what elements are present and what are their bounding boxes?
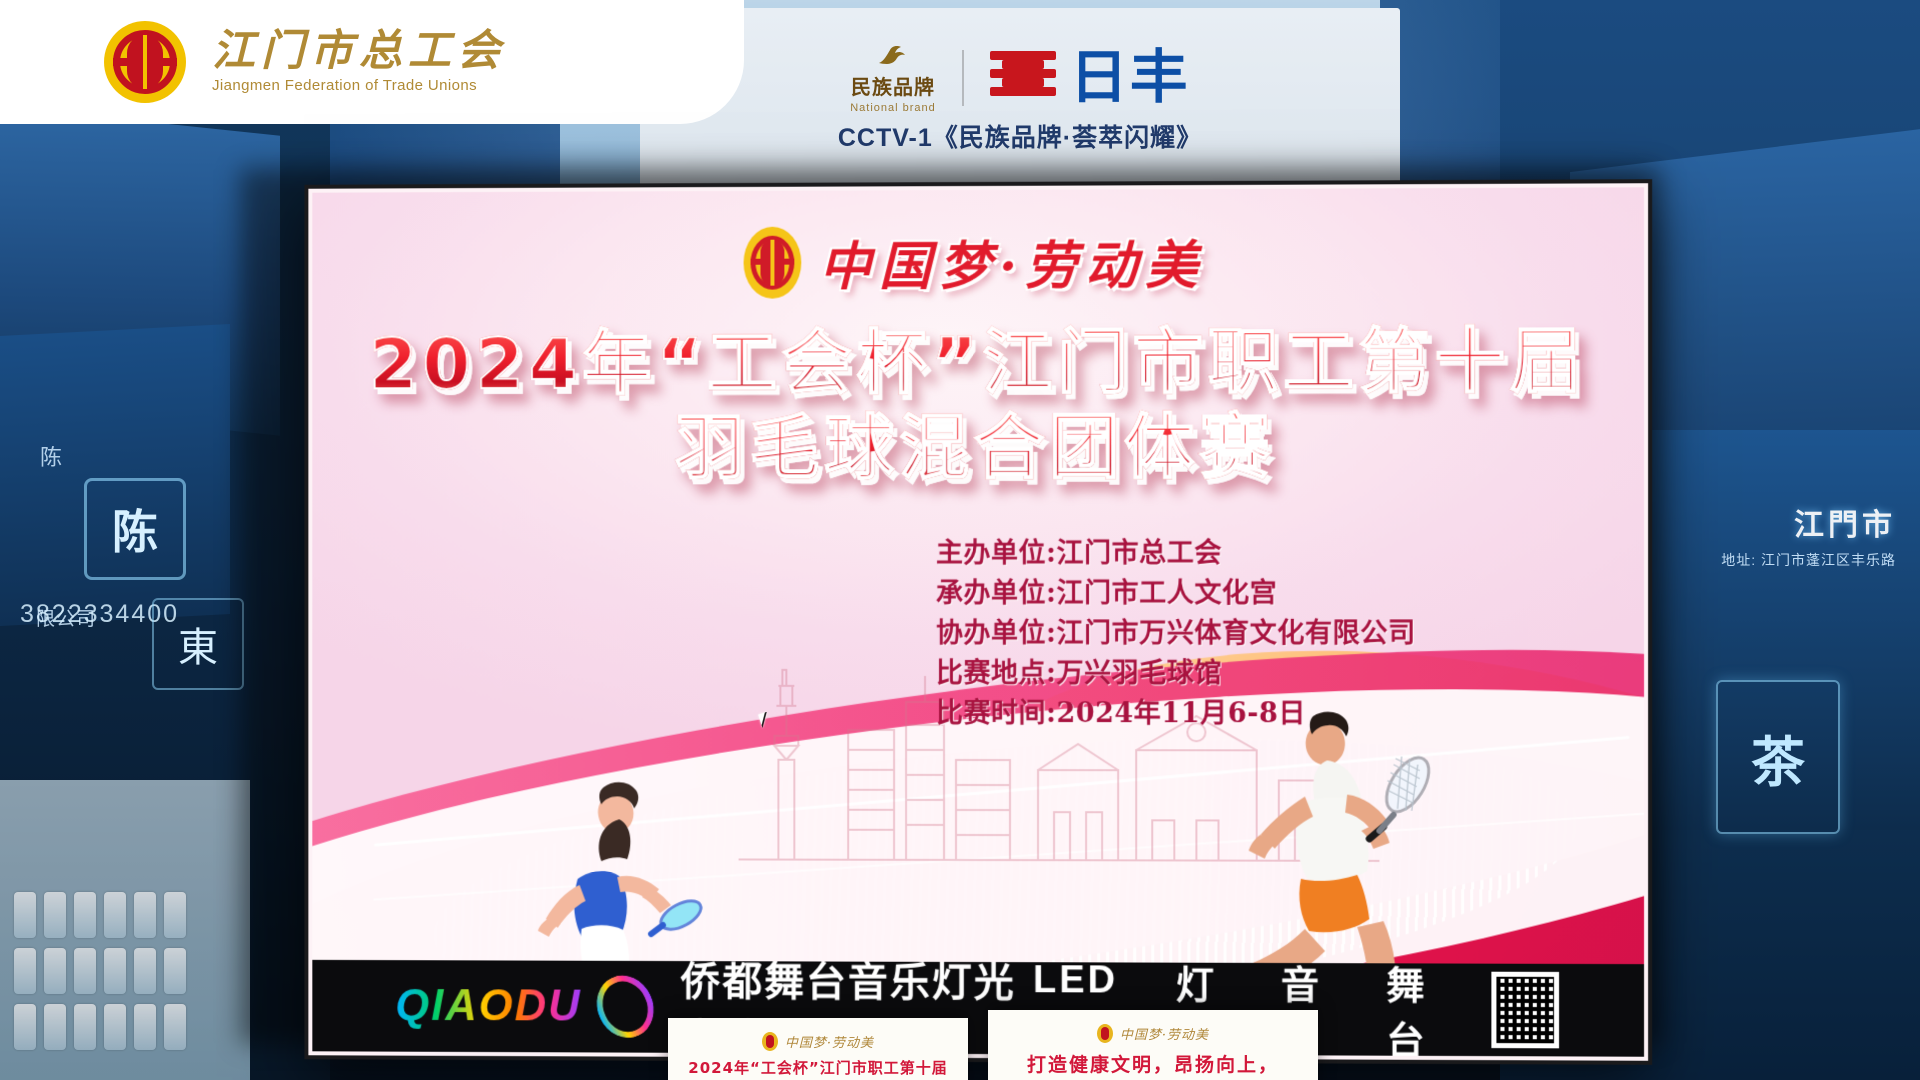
right-venue-address: 地址: 江门市蓬江区丰乐路 — [1721, 550, 1896, 570]
led-board-surface: 中国梦·劳动美 2024年“工会杯”江门市职工第十届 羽毛球混合团体赛 主办单位… — [312, 187, 1644, 964]
led-stage-board: 中国梦·劳动美 2024年“工会杯”江门市职工第十届 羽毛球混合团体赛 主办单位… — [304, 179, 1652, 1065]
left-booth-brand: 陈 — [40, 440, 64, 472]
federation-name-en: Jiangmen Federation of Trade Unions — [212, 77, 506, 94]
info-date: 比赛时间:2024年11月6-8日 — [936, 694, 1644, 735]
placard-header-text: 中国梦·劳动美 — [1120, 1024, 1209, 1043]
board-tagline: 中国梦·劳动美 — [312, 221, 1644, 301]
rifeng-brand-cn: 日丰 — [1070, 49, 1190, 107]
blue-tarp-panel — [0, 324, 230, 626]
left-booth-signage: 陈 — [40, 440, 64, 472]
board-text-content: 中国梦·劳动美 2024年“工会杯”江门市职工第十届 羽毛球混合团体赛 主办单位… — [312, 187, 1644, 734]
info-venue: 比赛地点:万兴羽毛球馆 — [936, 654, 1644, 694]
qr-code-icon — [1492, 972, 1559, 1049]
placard-event-title: 中国梦·劳动美 2024年“工会杯”江门市职工第十届 羽毛球混合团体赛 — [668, 1018, 968, 1080]
placard-header: 中国梦·劳动美 — [1097, 1024, 1209, 1043]
board-bottom-bar: QIAODU 侨都舞台音乐灯光音响 LED屏 灯光 音响 舞台 — [312, 960, 1644, 1057]
sponsor-banner: 民族品牌 National brand 日丰 CCTV-1《民族品牌·荟萃闪耀》 — [640, 8, 1400, 188]
left-booth-logo-box: 陈 — [84, 478, 186, 580]
right-venue-title: 江門市 — [1721, 500, 1896, 544]
federation-logo-card: 江门市总工会 Jiangmen Federation of Trade Unio… — [0, 0, 744, 124]
placard-header: 中国梦·劳动美 — [762, 1032, 874, 1051]
union-emblem-icon — [744, 226, 802, 298]
qiaodu-arc-icon — [587, 966, 664, 1047]
national-brand-mark: 民族品牌 National brand — [850, 43, 936, 114]
dragon-icon — [876, 43, 910, 69]
national-brand-en: National brand — [850, 102, 936, 114]
cctv-program-line: CCTV-1《民族品牌·荟萃闪耀》 — [838, 118, 1202, 154]
placard-slogan: 中国梦·劳动美 打造健康文明，昂扬向上， — [988, 1010, 1318, 1080]
union-emblem-icon — [104, 21, 186, 103]
info-organizer: 主办单位:江门市总工会 — [936, 533, 1644, 574]
tea-sign: 茶 — [1716, 680, 1840, 834]
info-coorganizer: 协办单位:江门市万兴体育文化有限公司 — [936, 614, 1644, 654]
right-venue-signage: 江門市 地址: 江门市蓬江区丰乐路 — [1721, 500, 1896, 570]
placard-header-text: 中国梦·劳动美 — [785, 1032, 874, 1051]
board-info-block: 主办单位:江门市总工会 承办单位:江门市工人文化宫 协办单位:江门市万兴体育文化… — [312, 533, 1644, 734]
service-stage: 舞台 — [1386, 960, 1457, 1057]
female-badminton-player-graphic — [522, 749, 770, 964]
left-booth-square-sign: 東 — [152, 598, 244, 690]
rifeng-mark-icon — [990, 47, 1056, 109]
national-brand-cn: 民族品牌 — [851, 71, 935, 100]
board-title-line-1: 2024年“工会杯”江门市职工第十届 — [312, 319, 1644, 408]
board-tagline-text: 中国梦·劳动美 — [819, 223, 1205, 299]
board-title-line-2: 羽毛球混合团体赛 — [312, 405, 1644, 493]
qiaodu-wordmark: QIAODU — [395, 981, 581, 1031]
sponsor-divider — [962, 50, 964, 106]
info-host: 承办单位:江门市工人文化宫 — [936, 573, 1644, 613]
board-title: 2024年“工会杯”江门市职工第十届 羽毛球混合团体赛 — [312, 319, 1644, 493]
placard-slogan-text: 打造健康文明，昂扬向上， — [1027, 1050, 1279, 1077]
union-emblem-icon — [762, 1032, 778, 1051]
screenshot-root: 陈 陈 限公司 3822334400 東 江門市 地址: 江门市蓬江区丰乐路 茶… — [0, 0, 1920, 1080]
water-bottle-pallet — [0, 780, 250, 1080]
rifeng-logo: 日丰 — [990, 47, 1190, 109]
federation-name-cn: 江门市总工会 — [212, 30, 506, 73]
union-emblem-icon — [1097, 1024, 1113, 1043]
placard-title-line-1: 2024年“工会杯”江门市职工第十届 — [688, 1057, 947, 1078]
